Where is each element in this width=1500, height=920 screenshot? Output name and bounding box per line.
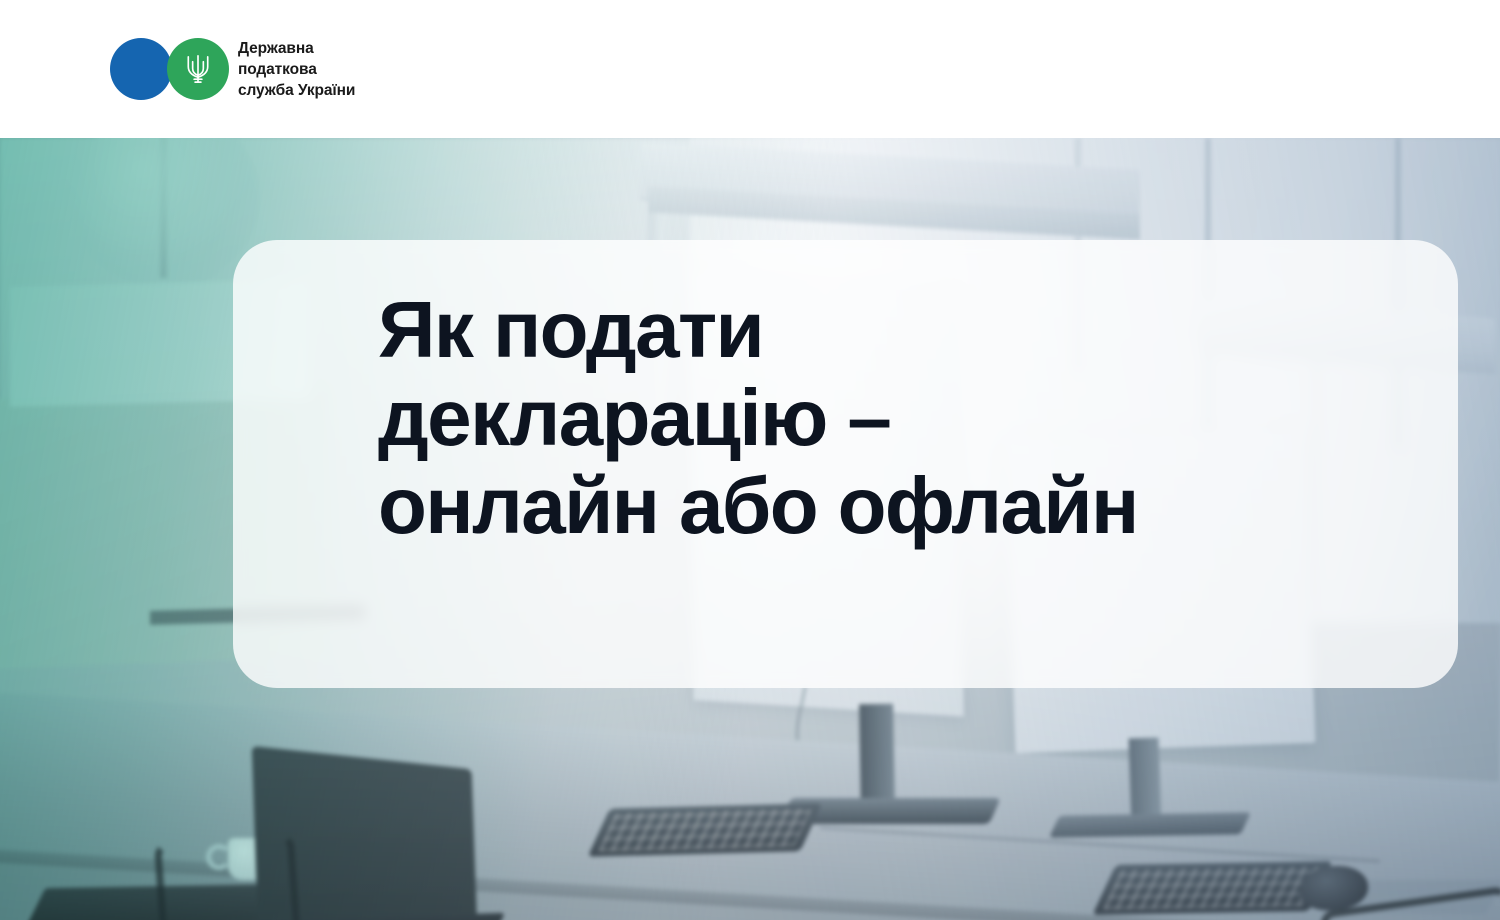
headline-card: Як подати декларацію – онлайн або офлайн [233, 240, 1458, 688]
ukraine-trident-icon [183, 52, 213, 86]
organization-name: Державна податкова служба України [238, 38, 355, 101]
headline-card-content: Як подати декларацію – онлайн або офлайн [378, 286, 1418, 550]
hero-banner: Як подати декларацію – онлайн або офлайн [0, 138, 1500, 920]
logo-marks [110, 36, 230, 102]
page-header: Державна податкова служба України [0, 0, 1500, 138]
page-title: Як подати декларацію – онлайн або офлайн [378, 286, 1418, 550]
organization-logo[interactable]: Державна податкова служба України [110, 36, 355, 102]
blue-circle-icon [110, 38, 172, 100]
slide-root: Державна податкова служба України [0, 0, 1500, 920]
